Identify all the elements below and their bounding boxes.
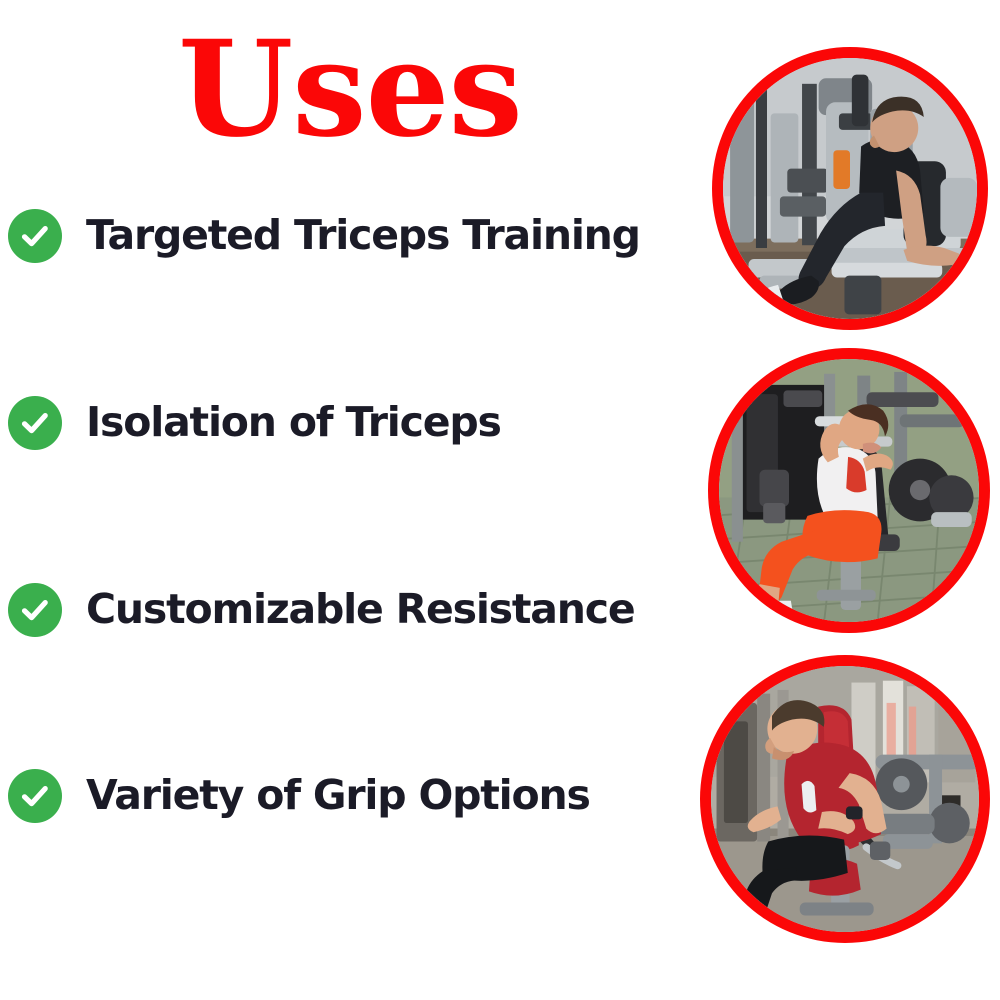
check-circle-icon	[8, 583, 62, 637]
photo-3-scene	[711, 666, 979, 932]
list-item-label: Targeted Triceps Training	[86, 214, 640, 257]
list-item-label: Isolation of Triceps	[86, 401, 501, 444]
photo-dip-machine-red-shirt	[700, 655, 990, 943]
photo-seated-press-orange-pants	[708, 348, 990, 633]
photo-2-scene	[719, 359, 979, 622]
photo-triceps-press-black-shirt	[712, 47, 988, 330]
check-circle-icon	[8, 209, 62, 263]
photo-1-scene	[723, 58, 977, 319]
list-item: Targeted Triceps Training	[8, 208, 640, 264]
list-item-label: Variety of Grip Options	[86, 774, 590, 817]
check-circle-icon	[8, 396, 62, 450]
check-circle-icon	[8, 769, 62, 823]
infographic-canvas: Uses Targeted Triceps Training Isolation…	[0, 0, 1000, 1000]
list-item: Customizable Resistance	[8, 582, 634, 638]
list-item: Variety of Grip Options	[8, 768, 590, 824]
list-item-label: Customizable Resistance	[86, 588, 634, 631]
list-item: Isolation of Triceps	[8, 395, 501, 451]
page-title: Uses	[0, 24, 700, 156]
